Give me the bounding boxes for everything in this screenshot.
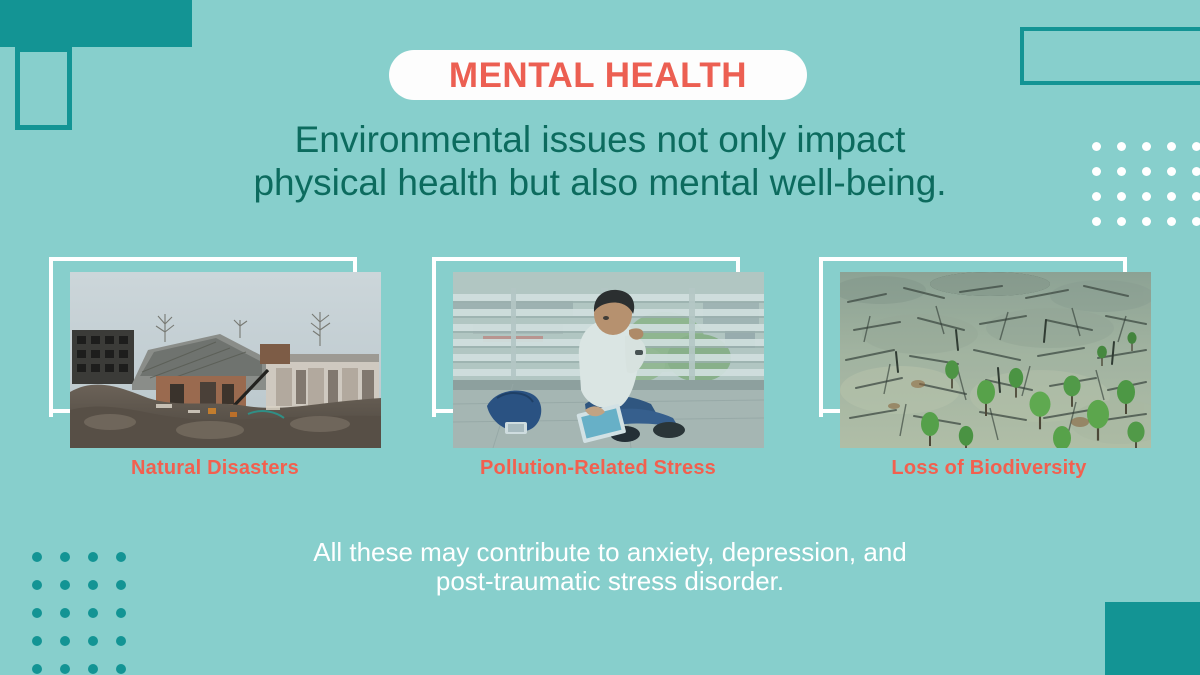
dot	[1192, 217, 1200, 226]
card-caption: Pollution-Related Stress	[432, 457, 764, 480]
dot	[1142, 217, 1151, 226]
dot	[1092, 142, 1101, 151]
dot	[32, 580, 42, 590]
decoration-top-right-dot-grid	[1092, 142, 1200, 242]
dot	[116, 552, 126, 562]
dot	[1092, 192, 1101, 201]
title-badge: MENTAL HEALTH	[389, 50, 807, 100]
dot	[1092, 217, 1101, 226]
dot	[1142, 192, 1151, 201]
card-caption: Loss of Biodiversity	[819, 457, 1159, 480]
dot	[32, 608, 42, 618]
dot	[88, 608, 98, 618]
decoration-bottom-right-block	[1105, 602, 1200, 675]
dot	[1142, 142, 1151, 151]
dot	[1117, 167, 1126, 176]
dot	[60, 580, 70, 590]
dot	[1142, 167, 1151, 176]
dot	[1192, 167, 1200, 176]
photo-pollution-related-stress	[453, 272, 764, 448]
dot	[116, 608, 126, 618]
dot	[116, 664, 126, 674]
dot	[60, 636, 70, 646]
photo-natural-disasters	[70, 272, 381, 448]
decoration-bottom-left-dot-grid	[32, 552, 144, 675]
dot	[116, 636, 126, 646]
dot	[32, 664, 42, 674]
dot	[1092, 167, 1101, 176]
dot	[1192, 142, 1200, 151]
dot	[32, 552, 42, 562]
dot	[1117, 142, 1126, 151]
dot	[88, 636, 98, 646]
page-title: MENTAL HEALTH	[449, 58, 747, 93]
dot	[60, 552, 70, 562]
dot	[60, 608, 70, 618]
dot	[116, 580, 126, 590]
footer-note: All these may contribute to anxiety, dep…	[260, 538, 960, 596]
dot	[88, 580, 98, 590]
dot	[32, 636, 42, 646]
subtitle: Environmental issues not only impact phy…	[160, 118, 1040, 204]
decoration-top-left-outline	[15, 47, 72, 130]
dot	[60, 664, 70, 674]
dot	[1167, 192, 1176, 201]
dot	[1117, 192, 1126, 201]
content-card-pollution-related-stress: Pollution-Related Stress	[432, 257, 764, 492]
decoration-top-left-block	[0, 0, 192, 47]
dot	[88, 664, 98, 674]
dot	[88, 552, 98, 562]
card-caption: Natural Disasters	[49, 457, 381, 480]
subtitle-line-2: physical health but also mental well-bei…	[160, 161, 1040, 204]
content-card-natural-disasters: Natural Disasters	[49, 257, 381, 492]
dot	[1167, 217, 1176, 226]
slide-canvas: MENTAL HEALTH Environmental issues not o…	[0, 0, 1200, 675]
dot	[1117, 217, 1126, 226]
decoration-top-right-outline	[1020, 27, 1200, 85]
dot	[1167, 167, 1176, 176]
dot	[1192, 192, 1200, 201]
footer-line-1: All these may contribute to anxiety, dep…	[260, 538, 960, 567]
footer-line-2: post-traumatic stress disorder.	[260, 567, 960, 596]
content-card-loss-of-biodiversity: Loss of Biodiversity	[819, 257, 1151, 492]
photo-loss-of-biodiversity	[840, 272, 1151, 448]
subtitle-line-1: Environmental issues not only impact	[160, 118, 1040, 161]
dot	[1167, 142, 1176, 151]
